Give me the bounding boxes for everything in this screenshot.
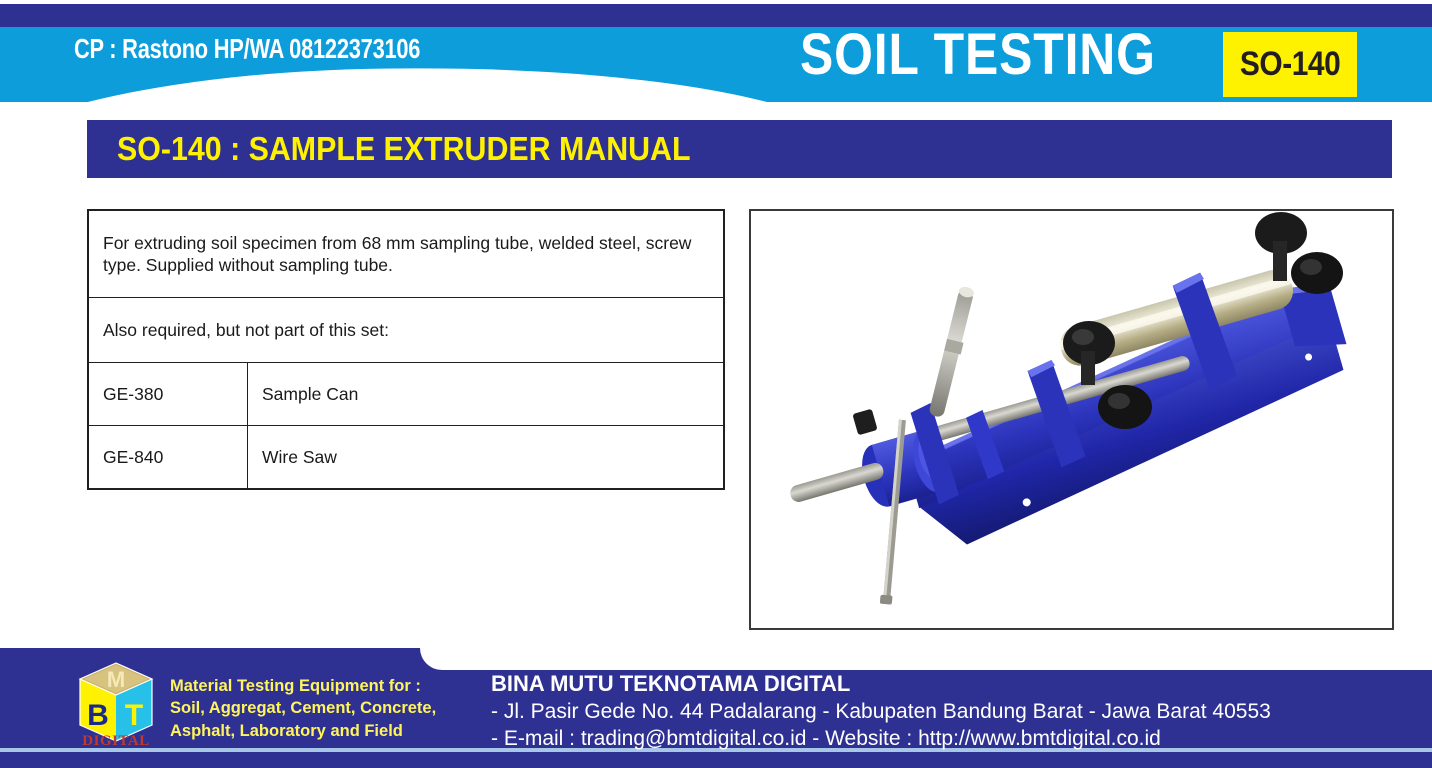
tagline-line-2: Soil, Aggregat, Cement, Concrete, (170, 697, 482, 719)
product-code-badge: SO-140 (1223, 32, 1357, 97)
category-title: SOIL TESTING (800, 26, 1156, 84)
company-name: BINA MUTU TEKNOTAMA DIGITAL (491, 670, 1271, 698)
svg-text:B: B (87, 699, 109, 732)
specification-table: For extruding soil specimen from 68 mm s… (87, 209, 725, 490)
tagline-line-3: Asphalt, Laboratory and Field (170, 720, 482, 742)
accessory-name: Sample Can (248, 363, 725, 426)
tagline-line-1: Material Testing Equipment for : (170, 675, 482, 697)
contact-info: CP : Rastono HP/WA 08122373106 (74, 33, 420, 65)
accessory-name: Wire Saw (248, 426, 725, 490)
description-cell: For extruding soil specimen from 68 mm s… (88, 210, 724, 298)
company-contact: - E-mail : trading@bmtdigital.co.id - We… (491, 725, 1271, 753)
company-address: - Jl. Pasir Gede No. 44 Padalarang - Kab… (491, 698, 1271, 726)
product-datasheet-page: CP : Rastono HP/WA 08122373106 SOIL TEST… (0, 0, 1432, 768)
header-swoosh-decoration (0, 59, 861, 102)
table-row: GE-380 Sample Can (88, 363, 724, 426)
product-code-label: SO-140 (1240, 45, 1340, 84)
table-row-note: Also required, but not part of this set: (88, 298, 724, 363)
note-cell: Also required, but not part of this set: (88, 298, 724, 363)
product-title-bar: SO-140 : SAMPLE EXTRUDER MANUAL (87, 120, 1392, 178)
accessory-code: GE-380 (88, 363, 248, 426)
header-navy-strip (0, 4, 1432, 27)
svg-text:T: T (125, 699, 143, 732)
company-block: BINA MUTU TEKNOTAMA DIGITAL - Jl. Pasir … (491, 670, 1271, 753)
table-row: GE-840 Wire Saw (88, 426, 724, 490)
company-tagline: Material Testing Equipment for : Soil, A… (170, 675, 482, 742)
product-title-text: SO-140 : SAMPLE EXTRUDER MANUAL (117, 130, 691, 168)
table-row-description: For extruding soil specimen from 68 mm s… (88, 210, 724, 298)
svg-text:M: M (107, 667, 125, 692)
logo-caption: DIGITAL (70, 733, 162, 750)
accessory-code: GE-840 (88, 426, 248, 490)
product-photo-sample-extruder (751, 211, 1392, 628)
footer-notch-decoration (420, 648, 1432, 670)
product-image-frame (749, 209, 1394, 630)
